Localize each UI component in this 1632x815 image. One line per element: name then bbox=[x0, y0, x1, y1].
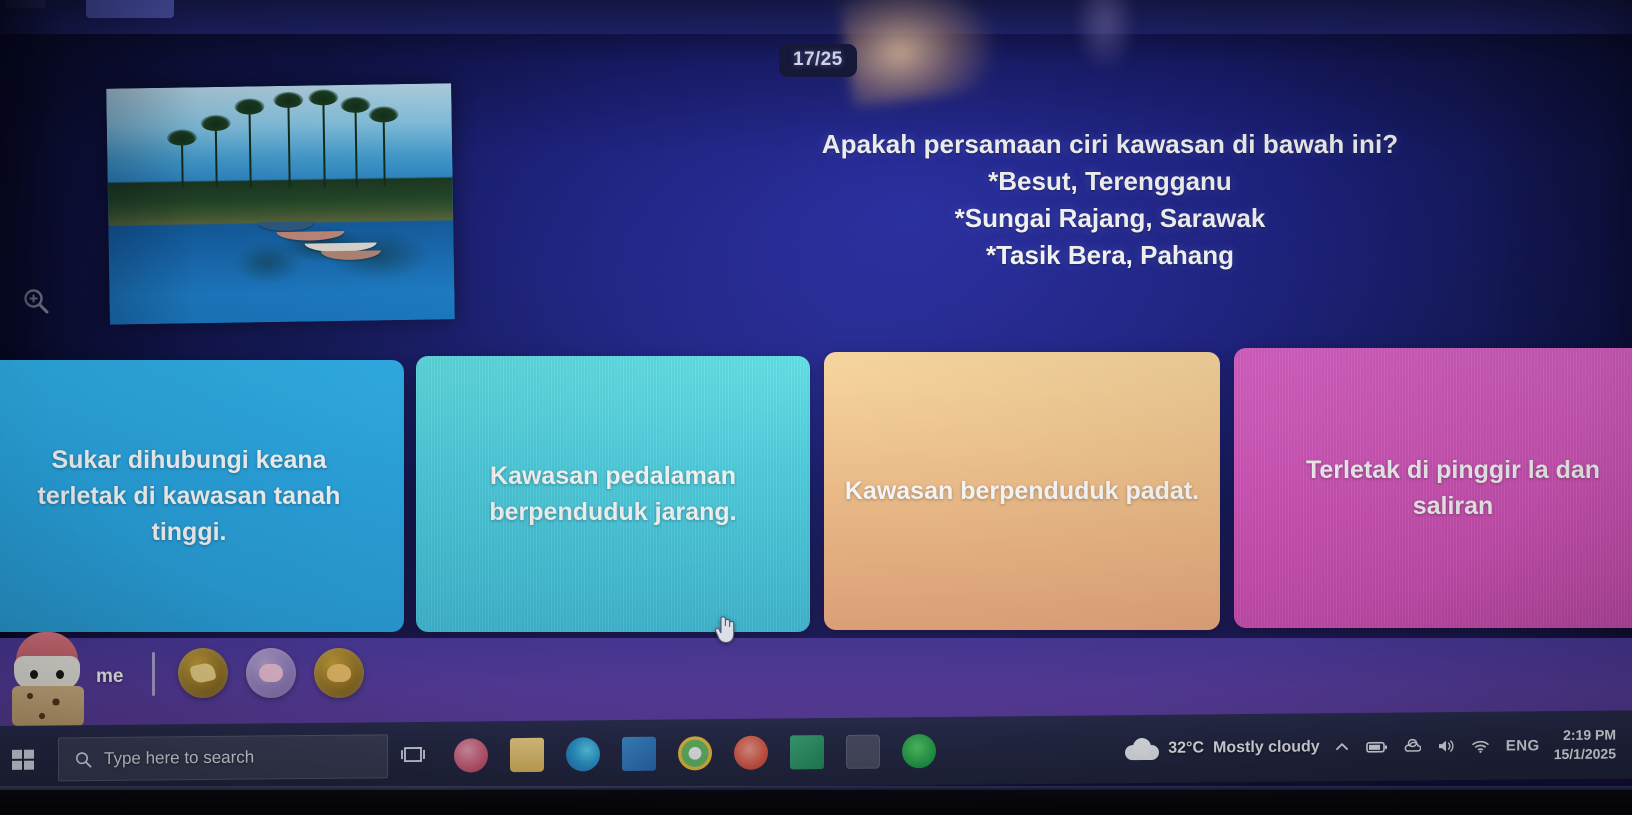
question-line-3: *Sungai Rajang, Sarawak bbox=[640, 200, 1580, 237]
avatar-body bbox=[12, 686, 84, 726]
avatar-eye-right bbox=[56, 670, 64, 679]
windows-taskbar: Type here to search bbox=[0, 710, 1632, 794]
avatar-eye-left bbox=[30, 670, 38, 679]
cloud-icon bbox=[1125, 738, 1159, 760]
input-language-indicator[interactable]: ENG bbox=[1506, 737, 1540, 754]
onedrive-icon[interactable] bbox=[1404, 738, 1421, 755]
answer-option-a-label: Sukar dihubungi keana terletak di kawasa… bbox=[4, 442, 388, 551]
clock-date: 15/1/2025 bbox=[1554, 744, 1616, 763]
powerup-list bbox=[178, 648, 364, 698]
whatsapp-icon[interactable] bbox=[902, 734, 936, 768]
microsoft-powerpoint-icon[interactable] bbox=[734, 736, 768, 770]
microsoft-edge-icon[interactable] bbox=[566, 737, 600, 771]
zoom-in-icon[interactable] bbox=[22, 287, 50, 315]
answer-option-b-label: Kawasan pedalaman berpenduduk jarang. bbox=[432, 458, 794, 531]
answer-option-c[interactable]: Kawasan berpenduduk padat. bbox=[824, 352, 1220, 630]
browser-tab-partial-left[interactable] bbox=[6, 0, 46, 8]
player-bar-divider bbox=[152, 652, 155, 696]
search-input[interactable]: Type here to search bbox=[58, 734, 388, 781]
weather-widget[interactable]: 32°C Mostly cloudy bbox=[1125, 736, 1319, 760]
tray-icons: ENG bbox=[1334, 737, 1540, 756]
gold-coin-icon[interactable] bbox=[178, 648, 228, 698]
wifi-icon[interactable] bbox=[1471, 738, 1490, 754]
browser-tab-partial[interactable] bbox=[86, 0, 174, 18]
weather-description: Mostly cloudy bbox=[1213, 738, 1320, 757]
answer-option-d-label: Terletak di pinggir la dan saliran bbox=[1250, 452, 1630, 525]
player-nickname: me bbox=[96, 666, 123, 688]
google-chrome-icon[interactable] bbox=[678, 736, 712, 770]
gold-token-icon[interactable] bbox=[314, 648, 364, 698]
microsoft-excel-icon[interactable] bbox=[790, 735, 824, 769]
question-image-photo bbox=[106, 83, 455, 324]
answer-option-b[interactable]: Kawasan pedalaman berpenduduk jarang. bbox=[416, 356, 810, 632]
battery-icon[interactable] bbox=[1366, 739, 1388, 755]
chevron-up-icon[interactable] bbox=[1334, 739, 1350, 755]
task-view-icon[interactable] bbox=[398, 739, 432, 773]
system-tray: 32°C Mostly cloudy bbox=[1125, 716, 1616, 777]
search-placeholder: Type here to search bbox=[104, 748, 254, 769]
question-line-4: *Tasik Bera, Pahang bbox=[640, 237, 1580, 274]
answer-options: Sukar dihubungi keana terletak di kawasa… bbox=[0, 352, 1632, 638]
answer-option-a[interactable]: Sukar dihubungi keana terletak di kawasa… bbox=[0, 360, 404, 632]
question-line-2: *Besut, Terengganu bbox=[640, 163, 1580, 200]
microsoft-office-icon[interactable] bbox=[454, 738, 488, 772]
browser-chrome-strip bbox=[0, 0, 1632, 34]
player-avatar bbox=[8, 626, 90, 722]
question-counter: 17/25 bbox=[779, 44, 857, 77]
mouse-cursor-hand bbox=[712, 612, 738, 644]
screen-glare-secondary bbox=[1075, 0, 1135, 70]
kahoot-app-icon[interactable] bbox=[846, 735, 880, 769]
clock-widget[interactable]: 2:19 PM 15/1/2025 bbox=[1554, 726, 1616, 764]
taskbar-app-icons bbox=[398, 729, 936, 778]
question-line-main: Apakah persamaan ciri kawasan di bawah i… bbox=[640, 126, 1580, 163]
photographed-screen: 17/25 Apakah persamaan ciri kawasan di b… bbox=[0, 0, 1632, 815]
microsoft-word-icon[interactable] bbox=[622, 737, 656, 771]
weather-temperature: 32°C bbox=[1168, 739, 1204, 757]
clock-time: 2:19 PM bbox=[1554, 726, 1616, 745]
question-text: Apakah persamaan ciri kawasan di bawah i… bbox=[640, 126, 1580, 274]
avatar-face bbox=[14, 656, 80, 690]
answer-option-d[interactable]: Terletak di pinggir la dan saliran bbox=[1234, 348, 1632, 628]
screen-bezel-bottom bbox=[0, 790, 1632, 815]
speaker-icon[interactable] bbox=[1437, 738, 1455, 754]
search-icon bbox=[75, 751, 92, 768]
question-image[interactable] bbox=[106, 83, 455, 324]
answer-option-c-label: Kawasan berpenduduk padat. bbox=[840, 473, 1204, 509]
file-explorer-icon[interactable] bbox=[510, 738, 544, 772]
windows-start-icon[interactable] bbox=[12, 750, 34, 770]
pink-gem-icon[interactable] bbox=[246, 648, 296, 698]
